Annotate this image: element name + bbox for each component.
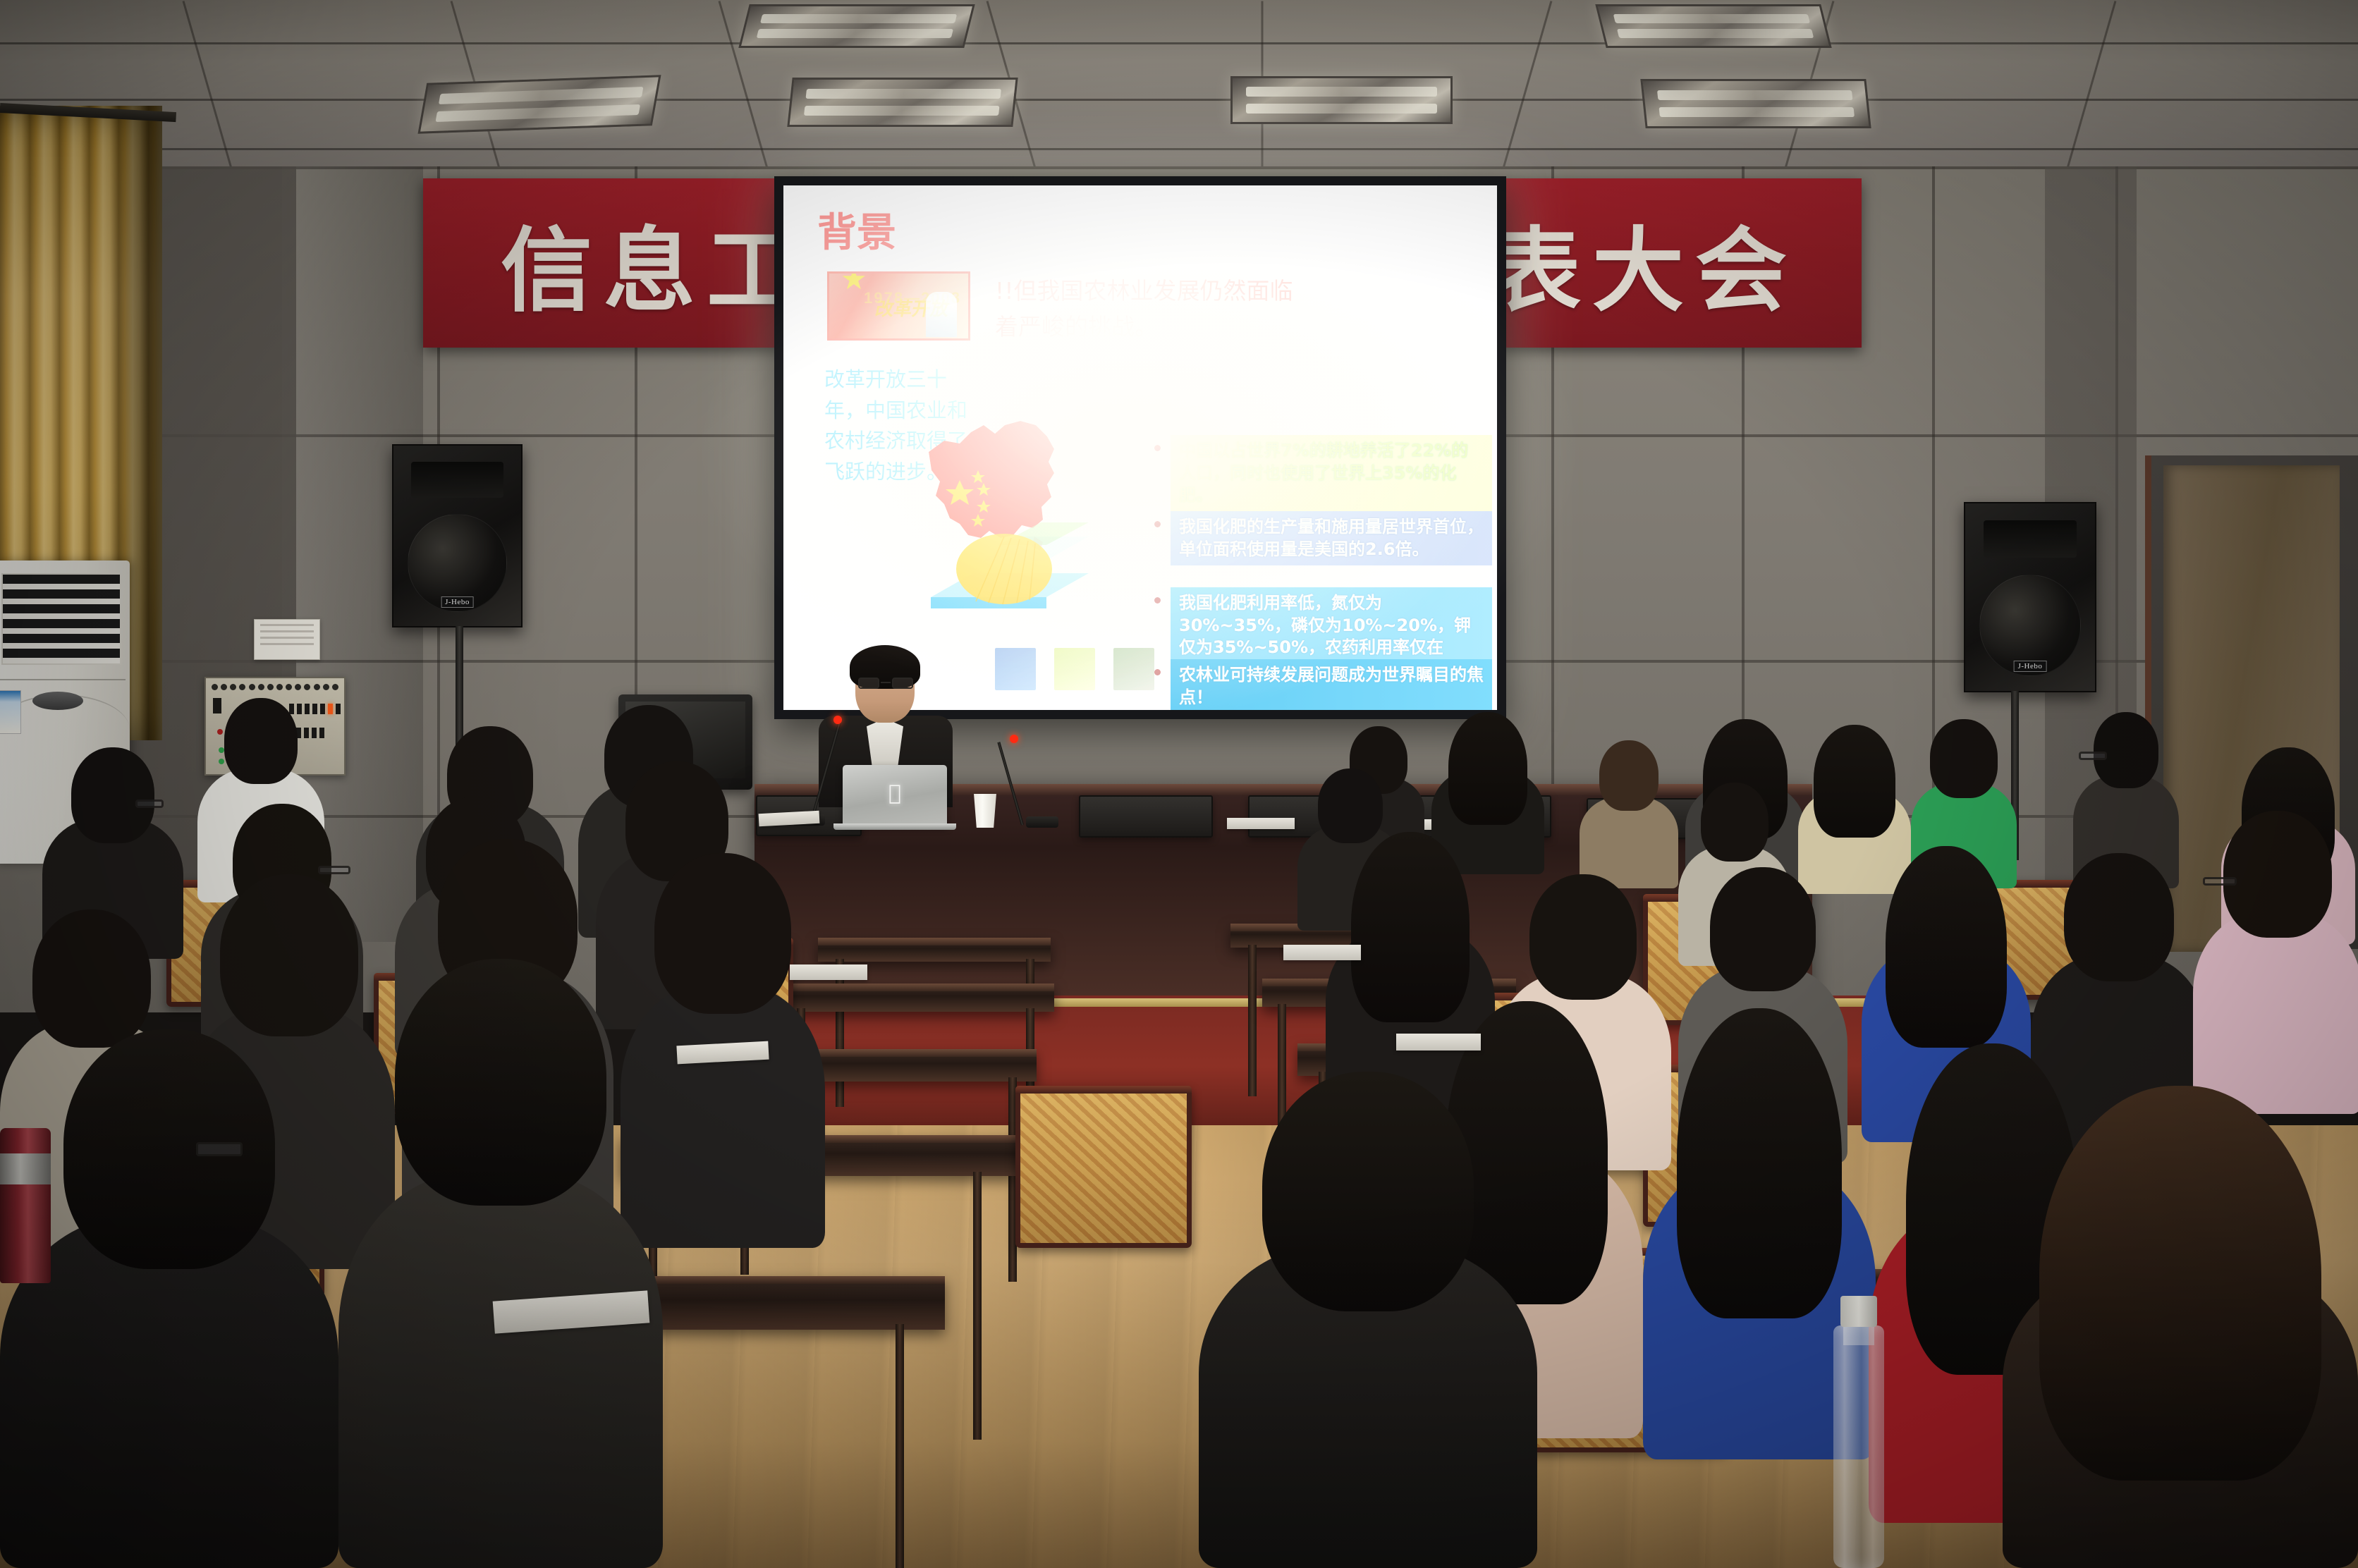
person-head: [1529, 874, 1637, 1000]
person-head: [220, 874, 358, 1036]
microphone-right-indicator: [1010, 735, 1018, 743]
microphone-left-indicator: [833, 716, 842, 724]
audience-person-foreground: [338, 959, 663, 1568]
audience-person: [2193, 811, 2358, 1114]
person-head: [71, 747, 154, 843]
ceiling-light-fixture: [417, 75, 661, 133]
person-head: [395, 959, 606, 1206]
slide-bullet-1: 中国以占世界7%的耕地养活了22%的人口，同时也使用了世界上35%的化肥。: [1171, 435, 1492, 512]
speaker-brand-badge: J-Hebo: [2014, 661, 2047, 672]
bullet-dot-icon: [1154, 445, 1161, 451]
person-head: [1930, 719, 1998, 798]
ceiling-light-fixture: [1595, 4, 1831, 48]
documents: [790, 964, 867, 980]
water-bottle: [1833, 1325, 1884, 1568]
person-hair: [1448, 712, 1527, 825]
documents: [1283, 945, 1361, 960]
slide-bullet-row: 农林业可持续发展问题成为世界瞩目的焦点！: [1154, 659, 1492, 710]
person-head: [2094, 712, 2158, 788]
slide-bullet-2: 我国化肥的生产量和施用量居世界首位，单位面积使用量是美国的2.6倍。: [1171, 511, 1492, 565]
flag-person-silhouette: [926, 292, 957, 337]
audience-person-foreground: [2003, 1086, 2358, 1568]
wheat-slab-graphic: [921, 518, 1090, 624]
projection-screen: 背景 改革开放 1978—2008 改革开放三十年，中国农业和农村经济取得了飞跃…: [783, 185, 1497, 710]
person-body: [2193, 912, 2358, 1114]
person-head: [2223, 811, 2332, 938]
person-glasses-icon: [2079, 752, 2107, 760]
microphone-right-base: [1026, 816, 1058, 828]
laptop-base: [833, 823, 956, 830]
person-head: [654, 853, 791, 1014]
bullet-dot-icon: [1154, 521, 1161, 527]
person-hair: [1814, 725, 1895, 838]
person-glasses-icon: [135, 800, 164, 808]
ceiling-light-fixture: [1230, 76, 1453, 124]
person-glasses-icon: [2203, 877, 2237, 886]
person-head: [1262, 1072, 1474, 1311]
bottle-cap: [1840, 1296, 1877, 1327]
person-glasses-icon: [318, 866, 350, 874]
person-head: [1701, 783, 1768, 862]
ac-energy-label: [0, 690, 21, 734]
audience-person: [1580, 740, 1678, 888]
person-hair: [1677, 1008, 1842, 1318]
photo-thumb: [1054, 648, 1095, 690]
person-hair: [2039, 1086, 2321, 1481]
ac-logo: [32, 692, 83, 710]
tweeter: [411, 462, 503, 498]
ceiling-light-fixture: [738, 4, 975, 48]
person-head: [63, 1029, 275, 1269]
photo-thumb: [1113, 648, 1154, 690]
apple-logo-icon: : [888, 781, 901, 806]
person-hair: [1886, 846, 2007, 1048]
ac-vent-grille: [1, 573, 121, 665]
head-table-chair: [1079, 795, 1213, 838]
person-head: [224, 698, 298, 784]
tweeter: [1984, 520, 2077, 558]
speaker-brand-badge: J-Hebo: [441, 596, 474, 608]
person-head: [2064, 853, 2174, 981]
slide-title: 背景: [817, 201, 896, 258]
audience-person-foreground: [1199, 1072, 1537, 1568]
slide-bullet-row: 中国以占世界7%的耕地养活了22%的人口，同时也使用了世界上35%的化肥。: [1154, 435, 1492, 512]
person-head: [1599, 740, 1658, 811]
ceiling-light-fixture: [1640, 79, 1871, 128]
documents: [1227, 818, 1295, 829]
thermos-flask: [0, 1128, 51, 1283]
loudspeaker-right: J-Hebo: [1964, 502, 2096, 692]
audience-desk: [818, 938, 1051, 962]
person-body: [338, 1173, 663, 1568]
ceiling: [0, 0, 2358, 176]
panel-switch-active: [328, 704, 333, 714]
person-hair: [1351, 832, 1470, 1022]
projection-screen-frame: 背景 改革开放 1978—2008 改革开放三十年，中国农业和农村经济取得了飞跃…: [774, 176, 1506, 719]
slide-flag-image: 改革开放 1978—2008: [827, 271, 970, 341]
bullet-dot-icon: [1154, 597, 1161, 604]
loudspeaker-left: J-Hebo: [392, 444, 523, 627]
person-head: [32, 909, 151, 1048]
person-head: [1710, 867, 1816, 991]
wall-notice: [254, 619, 320, 660]
documents: [1396, 1034, 1481, 1051]
slide-handwriting-red: !!但我国农林业发展仍然面临着严峻的挑战。: [995, 273, 1298, 345]
conference-room-scene: 信息工程 代表大会 背景 改革开放 1978—2008 改革开放三十年，中国农业…: [0, 0, 2358, 1568]
panel-knob-row[interactable]: [212, 684, 338, 690]
slide-bullet-row: 我国化肥的生产量和施用量居世界首位，单位面积使用量是美国的2.6倍。: [1154, 511, 1492, 565]
audience-chair: [1015, 1086, 1192, 1248]
bullet-dot-icon: [1154, 669, 1161, 675]
presenter-glasses-icon: [858, 678, 913, 689]
person-glasses-icon: [196, 1142, 243, 1156]
slide-bullet-4: 农林业可持续发展问题成为世界瞩目的焦点！: [1171, 659, 1492, 710]
laptop[interactable]: : [843, 765, 947, 826]
ceiling-light-fixture: [787, 78, 1018, 127]
audience-person-foreground: [0, 1029, 338, 1568]
